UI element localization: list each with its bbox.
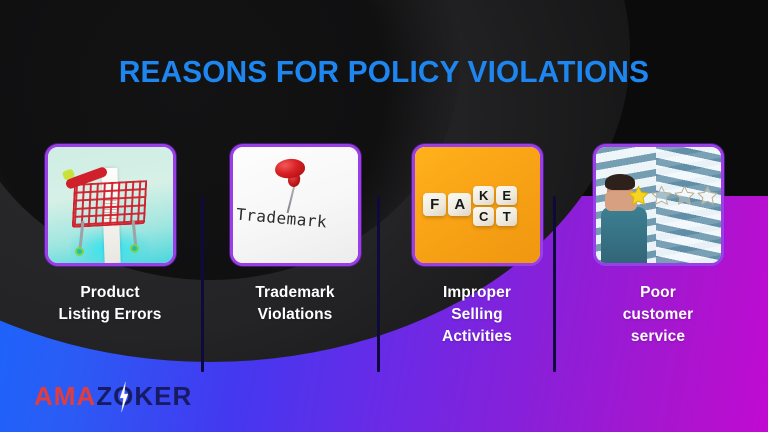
- logo-letter-o: O: [113, 381, 134, 412]
- column-label-line-3: Activities: [442, 326, 512, 348]
- die-letter-t: T: [496, 207, 517, 226]
- card-image-improper-selling-activities[interactable]: F A K C E T: [412, 144, 543, 266]
- dice-row: F A K C E T: [423, 193, 519, 235]
- die-stack-k-c: K C: [473, 186, 494, 228]
- lightning-bolt-icon: [117, 382, 130, 412]
- star-icon-empty-1: [651, 185, 672, 206]
- column-improper-selling-activities[interactable]: F A K C E T Improper Selling: [381, 144, 573, 348]
- person-body-shape: [601, 207, 647, 263]
- card-image-trademark-violations[interactable]: Trademark: [230, 144, 361, 266]
- logo-text-z: Z: [96, 381, 113, 412]
- logo-text-ker: KER: [134, 381, 192, 412]
- column-poor-customer-service[interactable]: Poor customer service: [562, 144, 754, 348]
- star-icon-empty-2: [674, 185, 695, 206]
- column-label-improper-selling-activities: Improper Selling Activities: [442, 282, 512, 348]
- column-trademark-violations[interactable]: Trademark Trademark Violations: [199, 144, 391, 326]
- card-image-product-listing-errors[interactable]: [45, 144, 176, 266]
- column-label-product-listing-errors: Product Listing Errors: [58, 282, 161, 326]
- column-label-line-1: Poor: [623, 282, 694, 304]
- column-label-trademark-violations: Trademark Violations: [255, 282, 334, 326]
- shopping-cart-receipt-image: [48, 147, 173, 263]
- die-letter-c: C: [473, 207, 494, 226]
- column-label-line-2: Violations: [255, 304, 334, 326]
- logo-text-ama: AMA: [34, 381, 96, 412]
- column-label-poor-customer-service: Poor customer service: [623, 282, 694, 348]
- die-stack-e-t: E T: [496, 186, 517, 228]
- column-label-line-1: Product: [58, 282, 161, 304]
- column-label-line-1: Improper: [442, 282, 512, 304]
- columns-container: Product Listing Errors Trademark Tradema…: [0, 0, 768, 432]
- column-label-line-2: Listing Errors: [58, 304, 161, 326]
- column-label-line-1: Trademark: [255, 282, 334, 304]
- star-icon-empty-3: [697, 185, 718, 206]
- one-star-review-image: [596, 147, 721, 263]
- column-product-listing-errors[interactable]: Product Listing Errors: [14, 144, 206, 326]
- slide-canvas: REASONS FOR POLICY VIOLATIONS: [0, 0, 768, 432]
- die-letter-a: A: [448, 193, 471, 216]
- die-letter-k: K: [473, 186, 494, 205]
- column-label-line-2: Selling: [442, 304, 512, 326]
- star-rating: [628, 185, 718, 206]
- cart-wheel-left: [75, 247, 84, 256]
- star-icon-filled: [628, 185, 649, 206]
- die-letter-e: E: [496, 186, 517, 205]
- column-label-line-2: customer: [623, 304, 694, 326]
- card-image-poor-customer-service[interactable]: [593, 144, 724, 266]
- column-label-line-3: service: [623, 326, 694, 348]
- fake-fact-dice-image: F A K C E T: [415, 147, 540, 263]
- pushpin-trademark-image: Trademark: [233, 147, 358, 263]
- amazoker-logo[interactable]: AMAZOKER: [34, 381, 192, 412]
- die-letter-f: F: [423, 193, 446, 216]
